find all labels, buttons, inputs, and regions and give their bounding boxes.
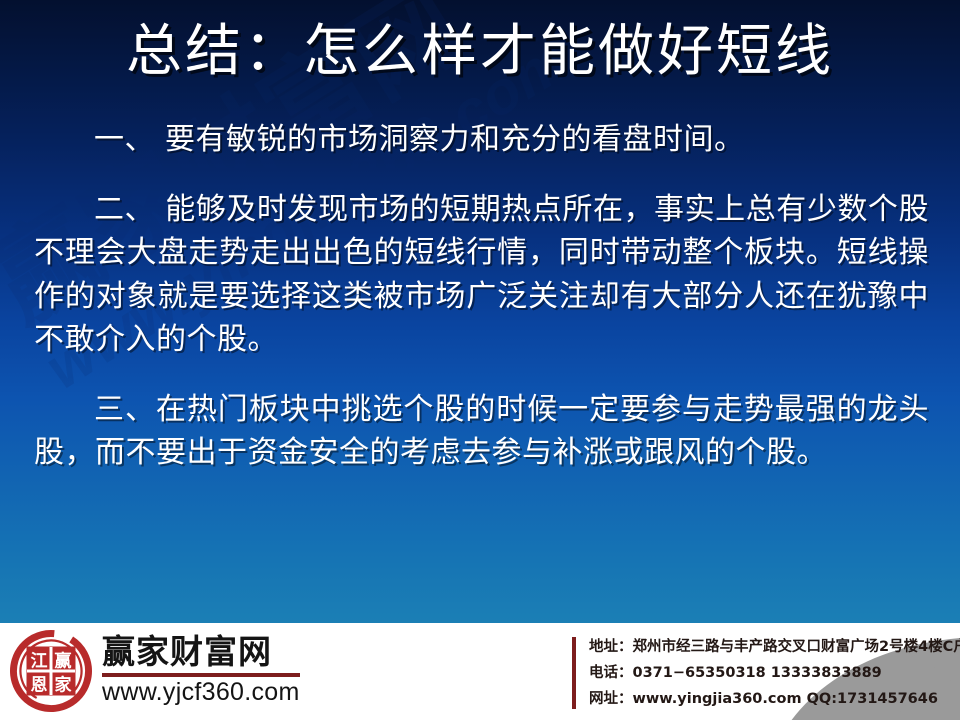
seal-char-top-left: 江: [31, 652, 48, 672]
contact-line-address: 地址：郑州市经三路与丰产路交叉口财富广场2号楼4楼C户: [589, 635, 960, 661]
slide-footer: 江 赢 恩 家 赢家财富网 www.yjcf360.com 地址：郑州市经三路与…: [0, 623, 960, 720]
brand-text-block: 赢家财富网 www.yjcf360.com: [102, 635, 300, 706]
seal-char-bottom-left: 恩: [31, 676, 48, 696]
slide-body: 赢家财富网 www.yingjia360.com 总结：怎么样才能做好短线 一、…: [0, 0, 960, 623]
brand-logo-block: 江 赢 恩 家 赢家财富网 www.yjcf360.com: [8, 628, 300, 714]
brand-name: 赢家财富网: [102, 635, 300, 670]
contact-line-website: 网址：www.yingjia360.com QQ:1731457646: [589, 687, 960, 713]
paragraph-one: 一、 要有敏锐的市场洞察力和充分的看盘时间。: [34, 118, 929, 162]
brand-underline: [102, 673, 300, 677]
contact-info: 地址：郑州市经三路与丰产路交叉口财富广场2号楼4楼C户 电话：0371−6535…: [589, 635, 960, 712]
contact-label-phone: 电话：: [589, 665, 633, 681]
contact-label-website: 网址：: [589, 691, 633, 707]
contact-value-address: 郑州市经三路与丰产路交叉口财富广场2号楼4楼C户: [633, 639, 960, 655]
seal-char-top-right: 赢: [55, 651, 72, 672]
contact-value-phone: 0371−65350318 13333833889: [633, 665, 882, 681]
brand-url: www.yjcf360.com: [102, 679, 300, 707]
paragraph-two: 二、 能够及时发现市场的短期热点所在，事实上总有少数个股不理会大盘走势走出出色的…: [34, 188, 929, 362]
seal-logo-icon: 江 赢 恩 家: [8, 628, 94, 714]
contact-value-website: www.yingjia360.com QQ:1731457646: [633, 691, 938, 707]
presentation-slide: 赢家财富网 www.yingjia360.com 总结：怎么样才能做好短线 一、…: [0, 0, 960, 720]
contact-line-phone: 电话：0371−65350318 13333833889: [589, 661, 960, 687]
footer-divider: [572, 637, 576, 709]
slide-content: 一、 要有敏锐的市场洞察力和充分的看盘时间。 二、 能够及时发现市场的短期热点所…: [34, 118, 929, 475]
seal-char-bottom-right: 家: [55, 675, 72, 696]
page-title: 总结：怎么样才能做好短线: [0, 20, 960, 84]
paragraph-three: 三、在热门板块中挑选个股的时候一定要参与走势最强的龙头股，而不要出于资金安全的考…: [34, 388, 929, 475]
contact-label-address: 地址：: [589, 639, 633, 655]
